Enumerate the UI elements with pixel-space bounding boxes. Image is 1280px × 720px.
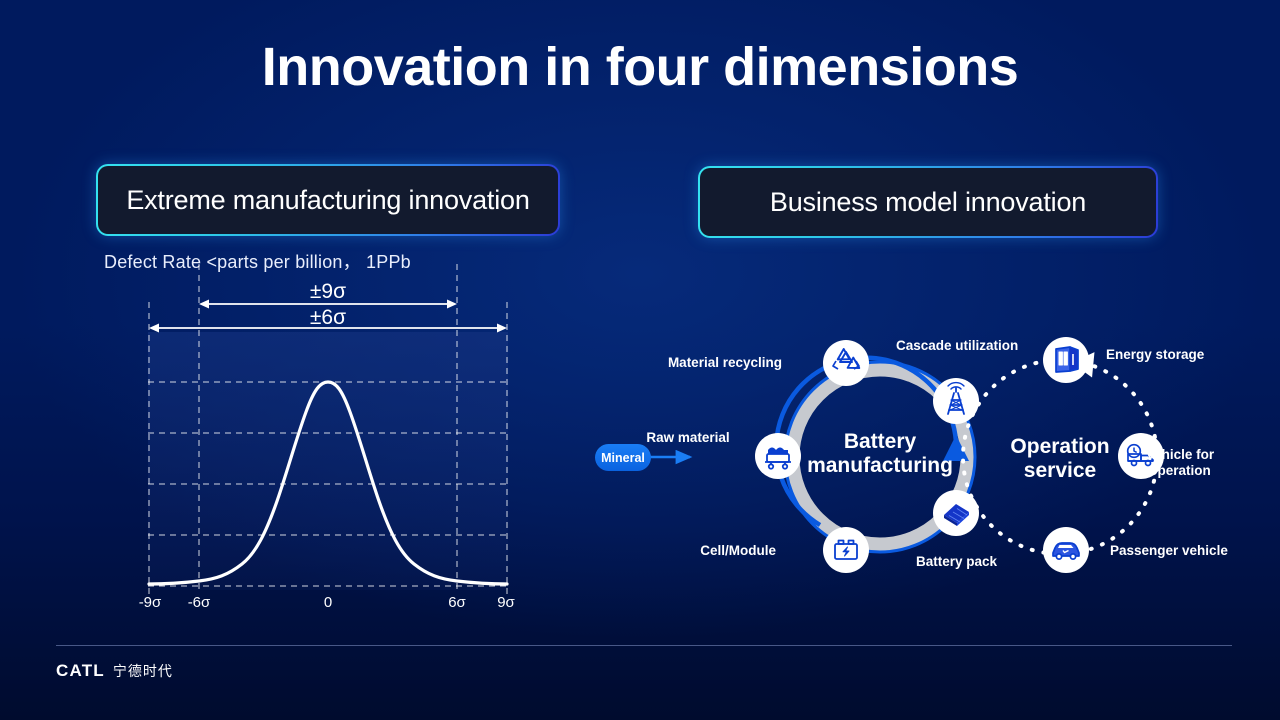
bell-curve-path (149, 382, 507, 584)
chart-svg (148, 332, 508, 590)
label-vehicle-for-operation-line1: Vehicle for (1125, 447, 1235, 463)
sigma-distribution-chart: ±9σ ±6σ -9σ -6σ 0 6σ 9σ (148, 332, 508, 590)
label-battery-pack: Battery pack (916, 554, 997, 570)
xtick-label-2: 0 (298, 594, 358, 611)
sigma9-label: ±9σ (228, 280, 428, 304)
business-model-diagram: Battery manufacturing Operation service … (590, 325, 1250, 595)
catl-logo-chinese: 宁德时代 (113, 661, 173, 681)
label-cascade-utilization: Cascade utilization (896, 338, 1018, 354)
slide-root: Innovation in four dimensions Extreme ma… (0, 0, 1280, 720)
sigma6-label: ±6σ (228, 306, 428, 330)
footer-divider (56, 645, 1232, 646)
energy-cabinet-icon (1056, 347, 1078, 372)
xtick-label-1: -6σ (169, 594, 229, 611)
car-icon (1053, 543, 1079, 559)
business-model-innovation-label: Business model innovation (700, 168, 1156, 236)
xtick-label-4: 9σ (476, 594, 536, 611)
node-cell-module[interactable] (823, 527, 869, 573)
node-battery-pack[interactable] (933, 490, 979, 536)
label-vehicle-for-operation-line2: operation (1125, 463, 1235, 479)
node-cascade-utilization[interactable] (933, 378, 979, 424)
catl-logo-text: CATL (56, 661, 105, 681)
label-vehicle-for-operation: Vehicle for operation (1125, 447, 1235, 479)
mineral-pill-label: Mineral (601, 451, 645, 465)
battery-manufacturing-title: Battery manufacturing (780, 430, 980, 477)
page-title: Innovation in four dimensions (0, 36, 1280, 98)
node-material-recycling[interactable] (823, 340, 869, 386)
extreme-manufacturing-innovation-box[interactable]: Extreme manufacturing innovation (96, 164, 560, 236)
label-cell-module: Cell/Module (618, 543, 776, 559)
extreme-manufacturing-innovation-label: Extreme manufacturing innovation (98, 166, 558, 234)
battery-manufacturing-line1: Battery (780, 430, 980, 454)
horizontal-gridlines (148, 382, 508, 586)
label-passenger-vehicle: Passenger vehicle (1110, 543, 1228, 559)
defect-rate-text: Defect Rate <parts per billion， 1PPb (104, 248, 411, 274)
mineral-pill[interactable]: Mineral (595, 444, 651, 471)
label-energy-storage: Energy storage (1106, 347, 1204, 363)
battery-manufacturing-line2: manufacturing (780, 454, 980, 478)
label-material-recycling: Material recycling (572, 355, 782, 371)
node-passenger-vehicle[interactable] (1043, 527, 1089, 573)
business-model-innovation-box[interactable]: Business model innovation (698, 166, 1158, 238)
catl-logo: CATL 宁德时代 (56, 661, 173, 681)
node-energy-storage[interactable] (1043, 337, 1089, 383)
